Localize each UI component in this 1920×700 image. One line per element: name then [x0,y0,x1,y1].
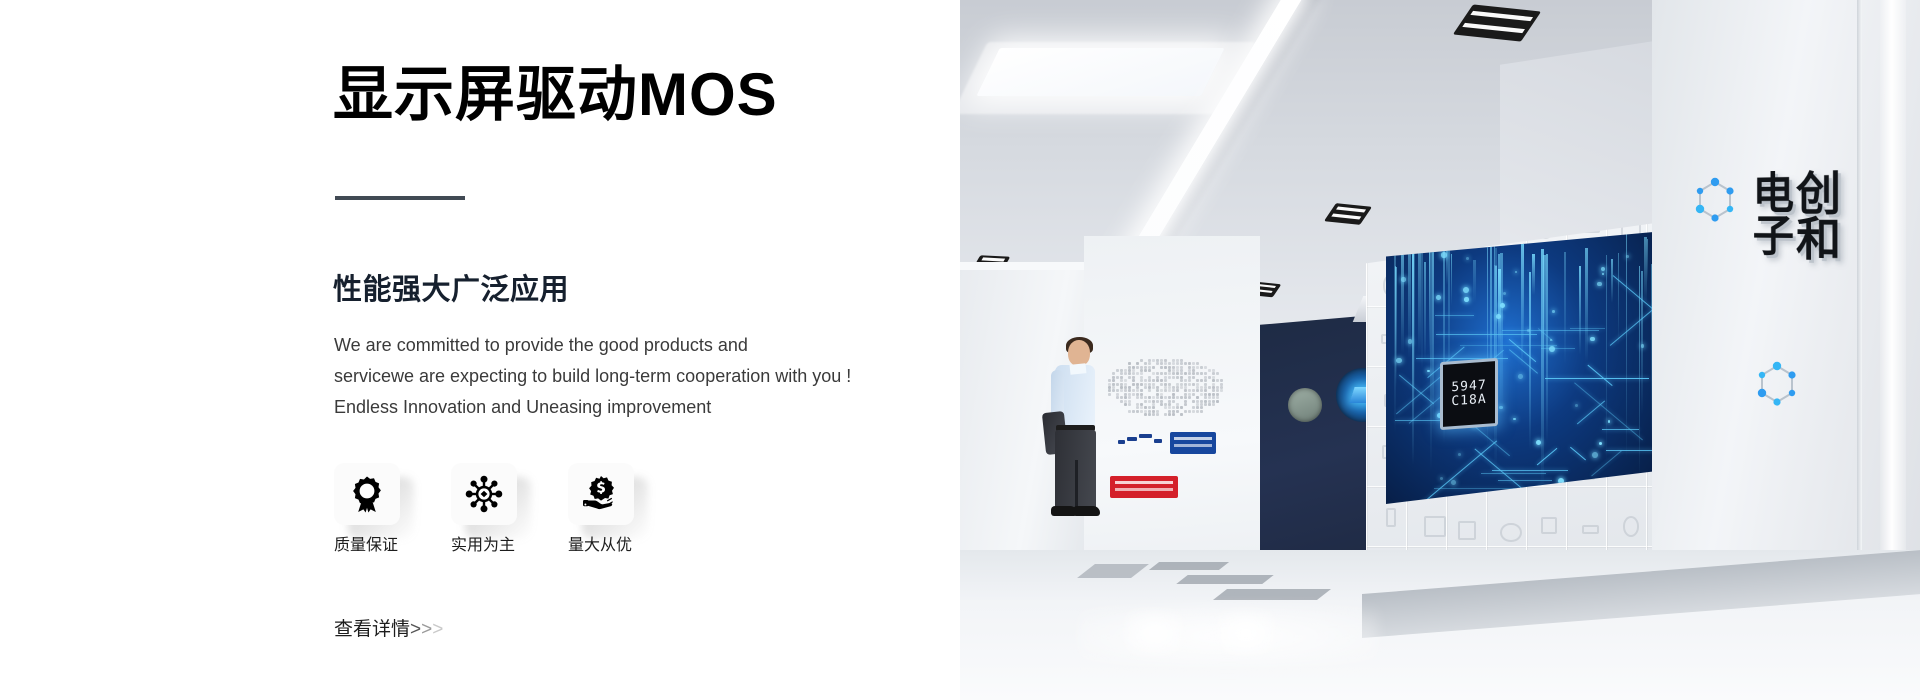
feature-label: 实用为主 [451,538,515,554]
cta-label: 查看详情 [334,619,410,640]
body-line-1: We are committed to provide the good pro… [334,330,851,361]
dotted-china-map [1108,352,1226,430]
chevron-2-icon: > [421,619,432,640]
feature-list: 质量保证 [334,463,658,554]
signage-char: 电 [1753,172,1794,215]
chip-graphic: 5947 C18A [1440,358,1498,430]
head [1068,340,1090,366]
signage-column-1: 创 和 [1796,171,1841,263]
page-title: 显示屏驱动MOS [333,62,778,128]
wall-info-panel-red [1110,476,1178,498]
feature-tile [451,463,517,525]
signage-char: 创 [1796,171,1841,217]
man-standing [1046,340,1118,520]
wall-info-panel-blue [1170,432,1216,454]
feature-label: 质量保证 [334,538,398,554]
leg-split [1075,460,1078,510]
body-line-3: Endless Innovation and Uneasing improvem… [334,392,851,423]
floor-light-reflection [1124,610,1184,656]
exhibit-photo-circle [1288,388,1322,422]
signage-column-2: 电 子 [1753,172,1794,262]
body-text: We are committed to provide the good pro… [334,330,851,423]
text-panel: 显示屏驱动MOS 性能强大广泛应用 We are committed to pr… [0,0,960,700]
floor-inlay-strip [1176,575,1274,584]
hexagon-molecule-icon [1754,360,1800,412]
floor-light-reflection [1216,610,1276,656]
chevron-1-icon: > [410,619,421,640]
chip-code-line-2: C18A [1451,393,1486,409]
feature-item-bulk-discount[interactable]: 量大从优 [568,463,658,554]
wall-logo-mark [1118,434,1162,450]
subtitle: 性能强大广泛应用 [333,266,569,308]
signage-char: 和 [1796,217,1841,263]
led-glow-dots [1386,232,1654,504]
feature-tile [334,463,400,525]
award-ribbon-icon [349,475,385,513]
view-details-link[interactable]: 查看详情>>> [334,620,443,639]
product-banner: 显示屏驱动MOS 性能强大广泛应用 We are committed to pr… [0,0,1920,700]
hexagon-molecule-icon [1692,176,1738,228]
network-hub-icon [465,475,503,513]
collar [1070,363,1087,375]
company-wall-signage: 创 和 电 子 [1753,171,1841,263]
hand-money-icon [581,475,621,513]
led-video-wall: 5947 C18A [1386,232,1654,504]
chevron-3-icon: > [432,619,443,640]
floor-inlay-strip [1149,562,1229,570]
signage-char: 子 [1753,215,1794,258]
shoe [1073,506,1100,516]
floor-inlay-strip [1213,589,1331,600]
body-line-2: servicewe are expecting to build long-te… [334,361,851,392]
feature-item-quality[interactable]: 质量保证 [334,463,424,554]
feature-tile [568,463,634,525]
skylight-panel [976,48,1224,96]
feature-item-practical[interactable]: 实用为主 [451,463,541,554]
title-divider [335,196,465,200]
feature-label: 量大从优 [568,538,632,554]
showroom-interior-photo: 5947 C18A 创 和 电 子 [958,0,1920,700]
